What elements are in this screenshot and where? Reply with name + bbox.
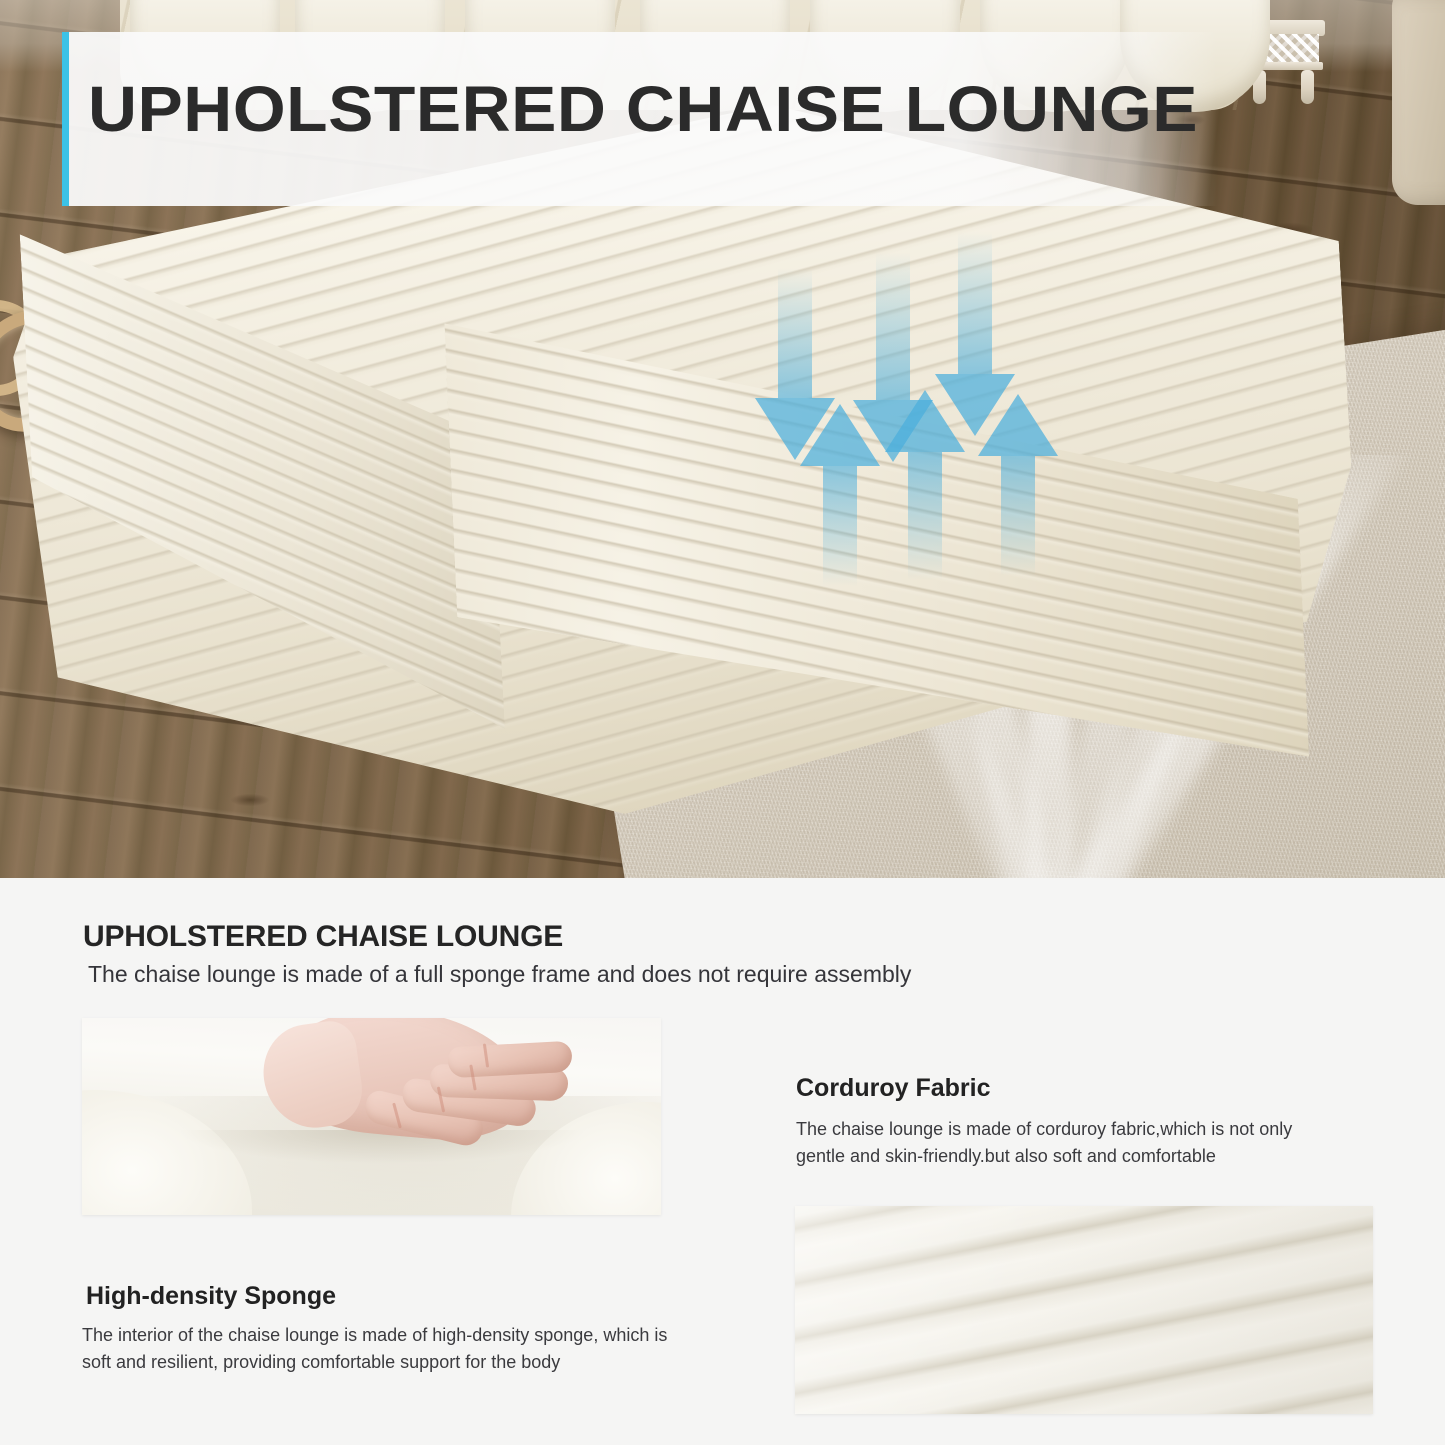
feature-body-high-density-sponge: The interior of the chaise lounge is mad… [82, 1322, 672, 1376]
thumb [257, 1018, 367, 1134]
feature-section: UPHOLSTERED CHAISE LOUNGE The chaise lou… [0, 878, 1445, 1445]
hero-lifestyle-photo: UPHOLSTERED CHAISE LOUNGE [0, 0, 1445, 878]
hero-title-accent-bar [62, 32, 69, 206]
section-heading: UPHOLSTERED CHAISE LOUNGE [83, 920, 563, 954]
hero-title: UPHOLSTERED CHAISE LOUNGE [88, 72, 1198, 146]
high-density-sponge-photo [82, 1018, 661, 1215]
feature-title-high-density-sponge: High-density Sponge [86, 1282, 336, 1311]
ceramic-vase [1392, 0, 1445, 205]
feature-body-corduroy-fabric: The chaise lounge is made of corduroy fa… [796, 1116, 1326, 1170]
corduroy-sheen [795, 1206, 1373, 1414]
corduroy-fabric-photo [795, 1206, 1373, 1414]
hand-pressing-foam [252, 1018, 582, 1170]
finger-4 [447, 1041, 572, 1078]
product-infographic-page: UPHOLSTERED CHAISE LOUNGE UPHOLSTERED CH… [0, 0, 1445, 1445]
feature-title-corduroy-fabric: Corduroy Fabric [796, 1074, 990, 1103]
section-subheading: The chaise lounge is made of a full spon… [88, 961, 911, 988]
